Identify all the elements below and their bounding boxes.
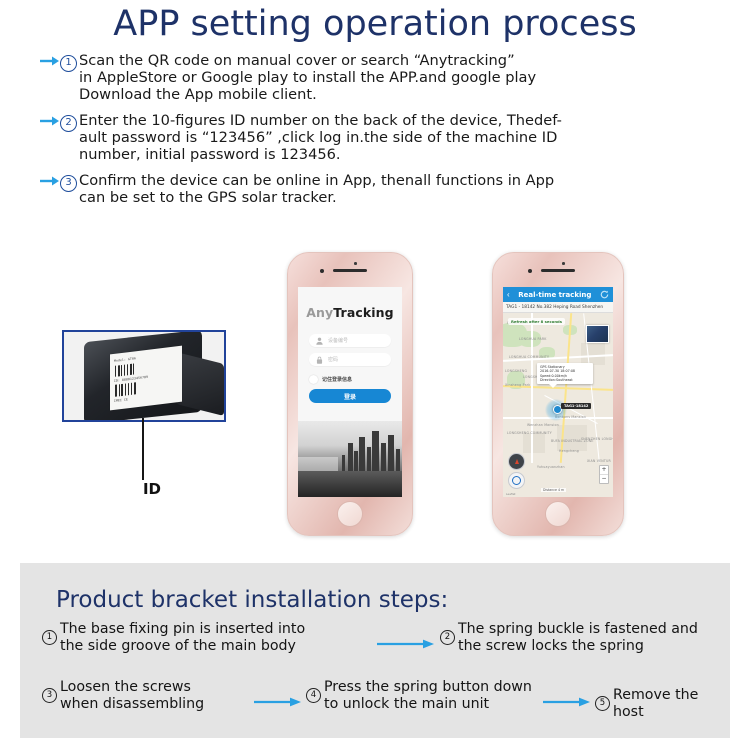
step-line: Scan the QR code on manual cover or sear… — [79, 52, 515, 69]
gps-info-popup: GPS Stationary 2016-07-30 18:07:08 Speed… — [537, 363, 593, 384]
username-input[interactable]: 设备编号 — [309, 334, 391, 347]
map-label: XIAN VENTUR — [587, 459, 611, 463]
home-button[interactable] — [545, 501, 571, 527]
bracket-step-row: 1 The base fixing pin is inserted into t… — [42, 621, 732, 667]
step-number: 3 — [60, 175, 77, 192]
step-number: 2 — [60, 115, 77, 132]
device-barcode-label: Model: GT06 ID: 8888123456789 IMEI CE — [110, 346, 182, 411]
refresh-countdown-toast: Refresh after 8 seconds — [508, 318, 565, 325]
arrow-icon — [40, 175, 60, 193]
bracket-step-number: 2 — [440, 630, 455, 645]
map-label: Xinsheng Park — [505, 383, 530, 387]
bracket-installation-panel: Product bracket installation steps: 1 Th… — [20, 563, 730, 738]
arrow-icon — [40, 115, 60, 133]
flow-arrow-icon — [377, 637, 435, 655]
phone-mockup-login: AnyTracking 设备编号 密码 记住登录信息 登录 — [287, 252, 413, 536]
bracket-step-item: 2 The spring buckle is fastened and the … — [440, 621, 698, 654]
bracket-step-number: 5 — [595, 696, 610, 711]
device-photo-frame: Model: GT06 ID: 8888123456789 IMEI CE — [62, 330, 226, 422]
step-item: 1 Scan the QR code on manual cover or se… — [40, 52, 720, 103]
login-button[interactable]: 登录 — [309, 389, 391, 403]
compass-button[interactable] — [508, 453, 525, 470]
bracket-step-line: The spring buckle is fastened and — [458, 621, 698, 637]
app-setup-steps: 1 Scan the QR code on manual cover or se… — [40, 52, 720, 215]
remember-login-label: 记住登录信息 — [322, 376, 352, 383]
map-label: LONGHUA COMMUNITY — [509, 355, 549, 359]
flow-arrow-icon — [254, 695, 302, 713]
earpiece-speaker — [541, 269, 575, 272]
bracket-step-line: the side groove of the main body — [60, 638, 296, 654]
map-label: Wenzhan Mansion — [527, 423, 559, 427]
app-logo: AnyTracking — [298, 305, 402, 320]
map-label: LONGHUA PARK — [519, 337, 547, 341]
map-label: LONGSHENG — [505, 369, 527, 373]
phone-screen-map: ‹ Real-time tracking TAG1 - 18142 No.382… — [503, 287, 613, 497]
bracket-step-item: 1 The base fixing pin is inserted into t… — [42, 621, 305, 654]
step-line: Confirm the device can be online in App,… — [79, 172, 554, 189]
bracket-step-line: Loosen the screws — [60, 679, 191, 695]
step-line: Enter the 10-figures ID number on the ba… — [79, 112, 562, 129]
step-text: Scan the QR code on manual cover or sear… — [79, 52, 720, 103]
step-number: 1 — [60, 55, 77, 72]
proximity-sensor-icon — [354, 262, 357, 265]
bracket-step-number: 3 — [42, 688, 57, 703]
arrow-icon — [40, 55, 60, 73]
device-photo-block: Model: GT06 ID: 8888123456789 IMEI CE — [62, 330, 242, 422]
compass-needle-icon — [515, 459, 519, 464]
bracket-step-text: The base fixing pin is inserted into the… — [60, 621, 305, 654]
login-screen: AnyTracking 设备编号 密码 记住登录信息 登录 — [298, 287, 402, 497]
tracking-screen: ‹ Real-time tracking TAG1 - 18142 No.382… — [503, 287, 613, 497]
step-line: can be set to the GPS solar tracker. — [79, 189, 337, 206]
app-bar: ‹ Real-time tracking — [503, 287, 613, 302]
locate-me-button[interactable] — [508, 472, 525, 489]
bracket-step-number: 1 — [42, 630, 57, 645]
password-placeholder: 密码 — [328, 356, 338, 363]
map-label: Yuhuayuanzhan — [537, 465, 565, 469]
step-item: 2 Enter the 10-figures ID number on the … — [40, 112, 720, 163]
city-skyline-image — [298, 421, 402, 497]
app-logo-bold: Tracking — [333, 305, 393, 320]
zoom-controls[interactable]: + − — [599, 465, 609, 484]
app-logo-light: Any — [306, 305, 333, 320]
marker-label-badge: TAG1-18142 — [561, 403, 591, 409]
bracket-step-text: Press the spring button down to unlock t… — [324, 679, 532, 712]
page-title: APP setting operation process — [0, 4, 750, 44]
label-line: IMEI CE — [114, 397, 128, 403]
earpiece-speaker — [333, 269, 367, 272]
step-line: number, initial password is 123456. — [79, 146, 341, 163]
bracket-step-line: to unlock the main unit — [324, 696, 489, 712]
id-caption: ID — [122, 480, 182, 498]
step-line: Download the App mobile client. — [79, 86, 317, 103]
map-label: Hengcheng — [559, 449, 579, 453]
map-scale-bar: Distance 4 m — [541, 488, 566, 492]
map-label: LONGSHENG COMMUNITY — [507, 431, 552, 435]
page-root: APP setting operation process 1 Scan the… — [0, 0, 750, 750]
device-address-bar: TAG1 - 18142 No.382 Heping Road Shenzhen — [503, 302, 613, 313]
front-camera-icon — [320, 269, 324, 273]
step-line: ault password is “123456” ,click log in.… — [79, 129, 557, 146]
callout-leader-line — [142, 418, 144, 480]
bracket-step-line: The base fixing pin is inserted into — [60, 621, 305, 637]
bracket-step-row: 3 Loosen the screws when disassembling 4… — [42, 679, 732, 725]
home-button[interactable] — [337, 501, 363, 527]
road-area — [298, 471, 402, 497]
bracket-step-text: The spring buckle is fastened and the sc… — [458, 621, 698, 654]
map-canvas[interactable]: Cooperative LONGHUA PARK LONGHUA COMMUNI… — [503, 313, 613, 497]
zoom-in-button[interactable]: + — [600, 466, 608, 475]
bracket-step-line: Press the spring button down — [324, 679, 532, 695]
satellite-thumbnail[interactable] — [586, 325, 609, 343]
refresh-icon[interactable] — [600, 290, 609, 299]
zoom-out-button[interactable]: − — [600, 475, 608, 483]
bracket-step-line: Remove the host — [613, 687, 698, 720]
map-attribution: Leaflet — [506, 492, 516, 496]
phone-screen-login: AnyTracking 设备编号 密码 记住登录信息 登录 — [298, 287, 402, 497]
front-camera-icon — [528, 269, 532, 273]
toggle-knob — [309, 375, 318, 384]
app-bar-title: Real-time tracking — [510, 291, 600, 299]
step-item: 3 Confirm the device can be online in Ap… — [40, 172, 720, 206]
user-icon — [316, 337, 323, 345]
remember-login-toggle[interactable]: 记住登录信息 — [309, 375, 402, 384]
bracket-step-number: 4 — [306, 688, 321, 703]
password-input[interactable]: 密码 — [309, 353, 391, 366]
popup-line: Direction:Southeast — [540, 378, 590, 382]
lock-icon — [316, 356, 323, 364]
bracket-step-text: Loosen the screws when disassembling — [60, 679, 204, 712]
step-line: in AppleStore or Google play to install … — [79, 69, 536, 86]
bracket-step-item: 3 Loosen the screws when disassembling — [42, 679, 204, 712]
proximity-sensor-icon — [562, 262, 565, 265]
step-text: Enter the 10-figures ID number on the ba… — [79, 112, 720, 163]
bracket-steps: 1 The base fixing pin is inserted into t… — [42, 621, 732, 725]
bracket-step-line: the screw locks the spring — [458, 638, 644, 654]
phone-mockup-map: ‹ Real-time tracking TAG1 - 18142 No.382… — [492, 252, 624, 536]
panel-title: Product bracket installation steps: — [56, 587, 448, 613]
bracket-step-item: 5 Remove the host — [595, 687, 732, 720]
bracket-step-item: 4 Press the spring button down to unlock… — [306, 679, 532, 712]
username-placeholder: 设备编号 — [328, 337, 348, 344]
step-text: Confirm the device can be online in App,… — [79, 172, 720, 206]
map-label: SHENZHEN LONGHUAZHEN NO.6 INDUSTRIAL ZON… — [581, 437, 613, 441]
flow-arrow-icon — [543, 695, 591, 713]
bracket-step-line: when disassembling — [60, 696, 204, 712]
bracket-step-text: Remove the host — [613, 687, 732, 720]
label-line: Model: GT06 — [114, 356, 136, 363]
locate-icon — [512, 476, 521, 485]
